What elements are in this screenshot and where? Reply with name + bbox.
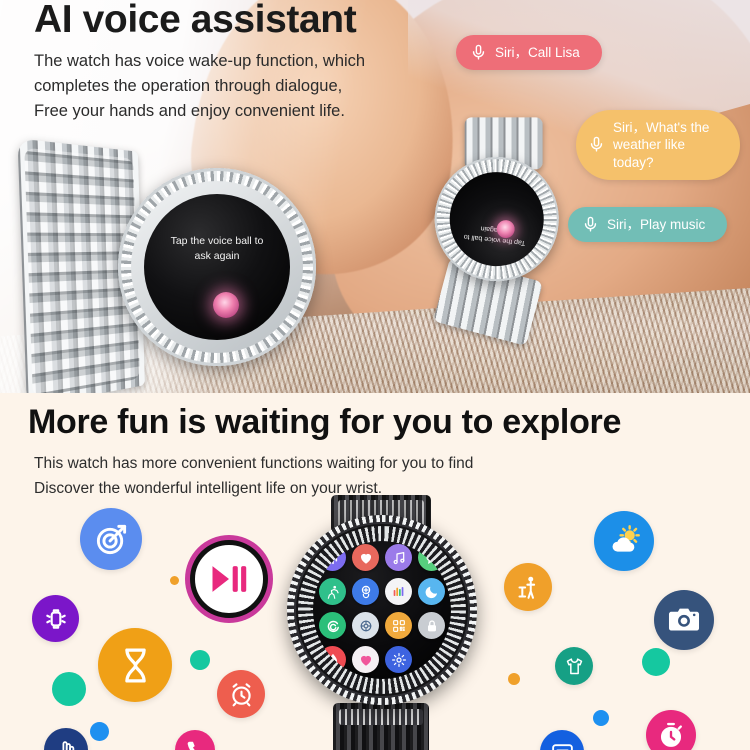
heart-rate-app-icon[interactable] xyxy=(352,646,379,673)
hero-subtitle-line-3: Free your hands and enjoy convenient lif… xyxy=(34,99,464,124)
target-icon[interactable] xyxy=(80,508,142,570)
decor-dot-orange-2 xyxy=(170,576,179,585)
health-app-icon[interactable] xyxy=(352,544,379,571)
voice-command-bubble-label: Siri，What's the weather like today? xyxy=(613,119,726,171)
play-pause-icon[interactable] xyxy=(190,540,268,618)
hero-subtitle-line-1: The watch has voice wake-up function, wh… xyxy=(34,49,464,74)
microphone-icon xyxy=(588,136,605,153)
watch-screen-app-menu xyxy=(313,541,451,679)
gesture-icon[interactable] xyxy=(44,728,88,750)
product-marketing-page: AI voice assistant The watch has voice w… xyxy=(0,0,750,750)
promo-subtitle-line-1: This watch has more convenient functions… xyxy=(34,451,473,476)
decor-dot-blue-2 xyxy=(593,710,609,726)
hero-subtitle: The watch has voice wake-up function, wh… xyxy=(34,49,464,125)
microphone-icon xyxy=(582,216,599,233)
messages-app-icon[interactable] xyxy=(418,544,445,571)
black-diamond-watch xyxy=(287,503,477,750)
voice-command-bubble-label: Siri，Call Lisa xyxy=(495,44,580,61)
fitness-app-icon[interactable] xyxy=(319,544,346,571)
hero-text-block: AI voice assistant The watch has voice w… xyxy=(34,0,464,124)
music-app-icon[interactable] xyxy=(385,544,412,571)
watch-screen-voice: Tap the voice ball to ask again xyxy=(144,194,290,340)
voice-command-bubble-call-lisa[interactable]: Siri，Call Lisa xyxy=(456,35,602,70)
running-app-icon[interactable] xyxy=(319,578,346,605)
watch-screen-prompt-line-1: Tap the voice ball to xyxy=(154,234,280,249)
camera-icon[interactable] xyxy=(654,590,714,650)
alarm-clock-icon[interactable] xyxy=(217,670,265,718)
weather-icon[interactable] xyxy=(594,511,654,571)
decor-dot-orange xyxy=(508,673,520,685)
watch-band-lower-black xyxy=(333,703,429,750)
promo-title: More fun is waiting for you to explore xyxy=(28,403,621,442)
decor-dot-teal-3 xyxy=(642,648,670,676)
sleep-app-icon[interactable] xyxy=(418,578,445,605)
voice-ball[interactable] xyxy=(213,292,239,318)
blood-drop-app-icon[interactable] xyxy=(319,646,346,673)
sedentary-reminder-icon[interactable] xyxy=(504,563,552,611)
lock-app-icon[interactable] xyxy=(418,612,445,639)
activity-rings-app-icon[interactable] xyxy=(319,612,346,639)
equalizer-app-icon[interactable] xyxy=(385,578,412,605)
hero-subtitle-line-2: completes the operation through dialogue… xyxy=(34,74,464,99)
hero-section: AI voice assistant The watch has voice w… xyxy=(0,0,750,393)
decor-dot-teal-2 xyxy=(190,650,210,670)
watch-alarm-icon[interactable] xyxy=(32,595,79,642)
watch-screen-prompt: Tap the voice ball to ask again xyxy=(154,234,280,264)
message-box-icon[interactable] xyxy=(540,730,584,750)
hero-title: AI voice assistant xyxy=(34,0,464,40)
medical-app-icon[interactable] xyxy=(352,578,379,605)
watch-screen-prompt-wrist: Tap the voice ball to ask again xyxy=(453,220,537,248)
decor-dot-teal xyxy=(52,672,86,706)
hourglass-icon[interactable] xyxy=(98,628,172,702)
qr-code-app-icon[interactable] xyxy=(385,612,412,639)
promo-section: More fun is waiting for you to explore T… xyxy=(0,393,750,750)
promo-subtitle: This watch has more convenient functions… xyxy=(34,451,473,501)
watch-screen-prompt-line-2: ask again xyxy=(154,249,280,264)
microphone-icon xyxy=(470,44,487,61)
tshirt-icon[interactable] xyxy=(555,647,593,685)
watch-app-grid xyxy=(313,541,451,679)
voice-command-bubble-play-music[interactable]: Siri，Play music xyxy=(568,207,727,242)
voice-command-bubble-weather[interactable]: Siri，What's the weather like today? xyxy=(576,110,740,180)
settings-app-icon[interactable] xyxy=(385,646,412,673)
silver-watch-front: Tap the voice ball to ask again xyxy=(22,150,267,393)
voice-command-bubble-label: Siri，Play music xyxy=(607,216,705,233)
silver-watch-on-wrist: Tap the voice ball to ask again xyxy=(415,150,592,341)
camera-app-icon[interactable] xyxy=(352,612,379,639)
decor-dot-blue xyxy=(90,722,109,741)
phone-call-icon[interactable] xyxy=(175,730,215,750)
stopwatch-icon[interactable] xyxy=(646,710,696,750)
